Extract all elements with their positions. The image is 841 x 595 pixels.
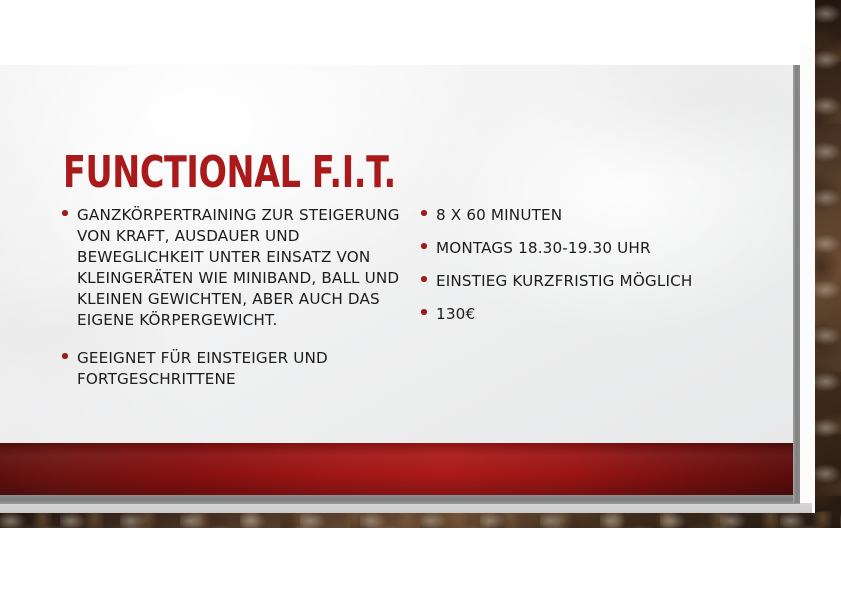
bullet-text: 8 X 60 MINUTEN — [436, 205, 762, 226]
slide-frame-gap — [800, 45, 815, 513]
list-item: GANZKÖRPERTRAINING ZUR STEIGERUNG VON KR… — [58, 205, 403, 331]
stone-texture-right — [815, 0, 841, 528]
list-item: 130€ — [417, 304, 762, 325]
bullet-dot-icon — [421, 309, 427, 315]
stone-texture-bottom — [0, 512, 841, 528]
slide-frame-right — [793, 65, 800, 503]
slide-footer-banner — [0, 443, 793, 495]
list-item: MONTAGS 18.30-19.30 UHR — [417, 238, 762, 259]
list-item: EINSTIEG KURZFRISTIG MÖGLICH — [417, 271, 762, 292]
bullet-dot-icon — [421, 210, 427, 216]
slide-footer-lip — [0, 495, 800, 504]
bullet-dot-icon — [421, 276, 427, 282]
list-item: 8 X 60 MINUTEN — [417, 205, 762, 226]
bullet-dot-icon — [62, 353, 68, 359]
bullet-column-right: 8 X 60 MINUTEN MONTAGS 18.30-19.30 UHR E… — [417, 205, 762, 337]
bullet-text: MONTAGS 18.30-19.30 UHR — [436, 238, 762, 259]
bullet-text: 130€ — [436, 304, 762, 325]
slide-title: FUNCTIONAL F.I.T. — [63, 151, 396, 195]
slide-frame-bottom — [0, 503, 812, 513]
list-item: GEEIGNET FÜR EINSTEIGER UND FORTGESCHRIT… — [58, 348, 403, 390]
bullet-text: GANZKÖRPERTRAINING ZUR STEIGERUNG VON KR… — [77, 205, 403, 331]
bullet-dot-icon — [421, 243, 427, 249]
bullet-text: EINSTIEG KURZFRISTIG MÖGLICH — [436, 271, 762, 292]
bullet-column-left: GANZKÖRPERTRAINING ZUR STEIGERUNG VON KR… — [58, 205, 403, 407]
bullet-dot-icon — [62, 210, 68, 216]
bullet-text: GEEIGNET FÜR EINSTEIGER UND FORTGESCHRIT… — [77, 348, 403, 390]
slide-page: FUNCTIONAL F.I.T. GANZKÖRPERTRAINING ZUR… — [0, 0, 841, 595]
